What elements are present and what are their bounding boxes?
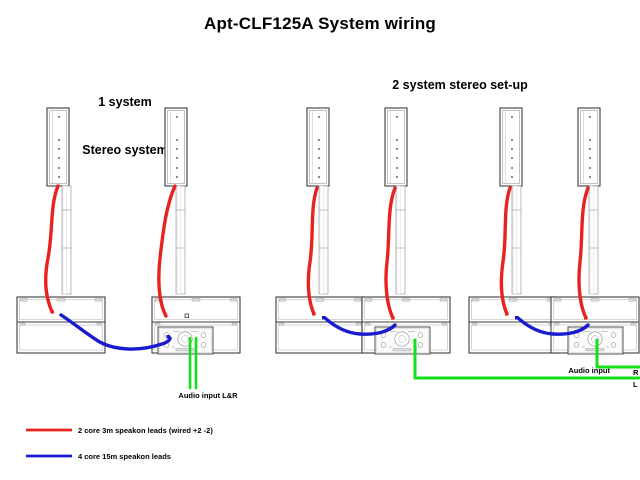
cable-red-rig-3-left [501,188,510,314]
rig-1-right [152,108,240,354]
cable-red-rig-1-left [46,186,58,312]
rig-2-left [276,108,364,353]
diagram-canvas: Apt-CLF125A System wiring 1 system Stere… [0,0,640,480]
rig-2-right [362,108,450,354]
rig-3-left [469,108,557,353]
legend [26,430,72,456]
wiring-diagram-graphics [0,0,640,480]
cable-red-rig-2-left [308,188,317,314]
rig-3-right [551,108,639,354]
